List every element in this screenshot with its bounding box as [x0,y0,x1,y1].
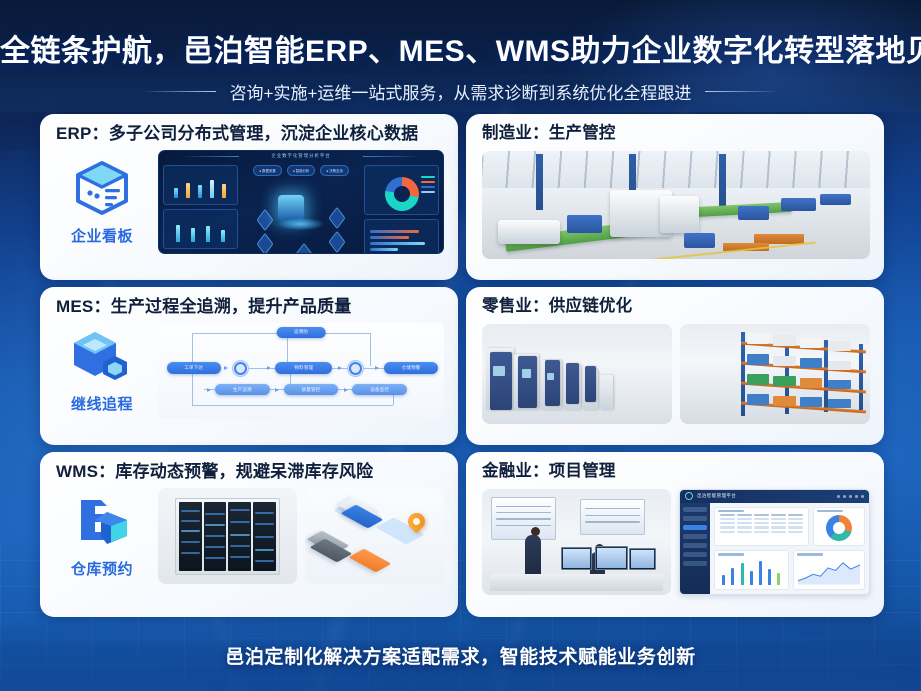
dashboard-sidebar[interactable] [680,503,710,594]
dashboard-topbar: 邑泊智能管理平台 [680,490,869,503]
card-retail-title: 零售业：供应链优化 [482,297,870,317]
erp-icon-block[interactable]: 企业看板 [56,159,148,246]
mes-flow-node: 物料管理 [275,362,332,374]
erp-dash-right-column [364,155,439,249]
card-manufacturing[interactable]: 制造业：生产管控 [466,114,884,280]
erp-donut-chart [385,177,419,211]
card-mes-body: 继线追程 追溯防 工单下达 [56,323,444,419]
card-manufacturing-media [482,151,870,259]
dashboard-row-top [714,507,865,547]
erp-hologram-core [278,195,324,230]
card-erp[interactable]: ERP：多子公司分布式管理，沉淀企业核心数据 企业看板 企业数字 [40,114,458,280]
dashboard-row-bottom [714,550,865,590]
erp-progress-bars [368,227,435,251]
dashboard-data-table [714,507,809,547]
card-finance[interactable]: 金融业：项目管理 [466,452,884,617]
footer-tagline: 邑泊定制化解决方案适配需求，智能技术赋能业务创新 [225,642,695,669]
card-wms-title: WMS：库存动态预警，规避呆滞库存风险 [56,462,444,482]
sidebar-item[interactable] [683,552,707,557]
page-title: 全链条护航，邑泊智能ERP、MES、WMS助力企业数字化转型落地见效 [0,26,921,70]
erp-donut-panel [364,165,439,215]
erp-dash-left-column [163,155,238,249]
erp-dash-center-column: ● 数据采集 ● 智能分析 ● 决策支持 [242,155,361,249]
erp-donut-legend [421,176,435,193]
mes-flow-node: 质量管控 [284,384,338,396]
card-finance-media: 邑泊智能管理平台 [482,489,870,595]
card-wms-media [158,488,444,584]
mes-flow-ring-node [232,360,249,377]
erp-kpi-chip: ● 智能分析 [287,165,316,176]
card-grid: ERP：多子公司分布式管理，沉淀企业核心数据 企业看板 企业数字 [40,114,881,617]
mes-flow-node: 追溯防 [277,327,326,338]
sidebar-item[interactable] [683,534,707,539]
project-management-dashboard: 邑泊智能管理平台 [679,489,870,595]
card-manufacturing-title: 制造业：生产管控 [482,124,870,144]
dashboard-brand: 邑泊智能管理平台 [697,493,736,499]
subtitle-rule-right [705,91,781,92]
control-room-photo [482,489,671,595]
isometric-logistics-illustration [305,488,444,584]
poster-canvas: 全链条护航，邑泊智能ERP、MES、WMS助力企业数字化转型落地见效 咨询+实施… [0,0,921,691]
sidebar-item[interactable] [683,507,707,512]
dashboard-logo-icon [685,492,693,500]
mes-flow-node: 仓储预警 [384,362,438,374]
erp-kpi-chip: ● 数据采集 [253,165,282,176]
card-retail[interactable]: 零售业：供应链优化 [466,287,884,445]
card-finance-title: 金融业：项目管理 [482,462,870,482]
card-mes-title: MES：生产过程全追溯，提升产品质量 [56,297,444,317]
card-erp-body: 企业看板 企业数字化管理分析平台 [56,150,444,254]
warehouse-racking-photo [680,324,870,424]
erp-kpi-chip: ● 决策支持 [320,165,349,176]
erp-bar-chart-2 [167,217,234,245]
card-retail-media [482,324,870,424]
cube-hexagon-icon [71,329,133,385]
mes-icon-label: 继线追程 [56,393,148,414]
wms-icon-label: 仓库预约 [56,558,148,579]
cube-dashboard-icon [71,159,133,217]
dashboard-donut-chart [813,507,865,547]
sidebar-item[interactable] [683,561,707,566]
server-racks-photo [158,488,297,584]
erp-progress-panel [364,219,439,254]
erp-bar-panel-1 [163,165,238,205]
dashboard-topbar-icons [837,495,864,498]
shelf-cube-icon [71,494,133,550]
mes-icon-block[interactable]: 继线追程 [56,329,148,414]
erp-dashboard-visual: 企业数字化管理分析平台 [158,150,444,254]
erp-kpi-chips: ● 数据采集 ● 智能分析 ● 决策支持 [242,165,361,176]
card-wms[interactable]: WMS：库存动态预警，规避呆滞库存风险 仓库预约 [40,452,458,617]
card-wms-body: 仓库预约 [56,488,444,584]
sidebar-item-active[interactable] [683,525,707,530]
page-subtitle: 咨询+实施+运维一站式服务，从需求诊断到系统优化全程跟进 [230,79,692,104]
erp-bar-panel-2 [163,209,238,249]
card-erp-title: ERP：多子公司分布式管理，沉淀企业核心数据 [56,124,444,144]
mes-flow-node: 工单下达 [167,362,221,374]
erp-dashboard-caption: 企业数字化管理分析平台 [159,153,443,159]
wms-icon-block[interactable]: 仓库预约 [56,494,148,579]
factory-production-line-photo [482,151,870,259]
dashboard-main [710,503,869,594]
dashboard-bar-chart [714,550,789,590]
erp-bar-chart-1 [167,173,234,201]
mes-flow-node: 生产追溯 [215,384,269,396]
poster-footer: 邑泊定制化解决方案适配需求，智能技术赋能业务创新 [0,620,921,691]
dashboard-area-chart [793,550,866,590]
subtitle-row: 咨询+实施+运维一站式服务，从需求诊断到系统优化全程跟进 [0,79,921,104]
equipment-row-photo [482,324,672,424]
mes-flow-ring-node [347,360,364,377]
mes-flowchart-visual: 追溯防 工单下达 物料管理 仓储预警 生产追溯 质量管控 设备监控 [158,323,444,419]
erp-icon-label: 企业看板 [56,225,148,246]
sidebar-item[interactable] [683,543,707,548]
mes-flow-node: 设备监控 [352,384,406,396]
subtitle-rule-left [140,91,216,92]
sidebar-item[interactable] [683,516,707,521]
card-mes[interactable]: MES：生产过程全追溯，提升产品质量 继线追程 [40,287,458,445]
poster-header: 全链条护航，邑泊智能ERP、MES、WMS助力企业数字化转型落地见效 咨询+实施… [0,0,921,112]
